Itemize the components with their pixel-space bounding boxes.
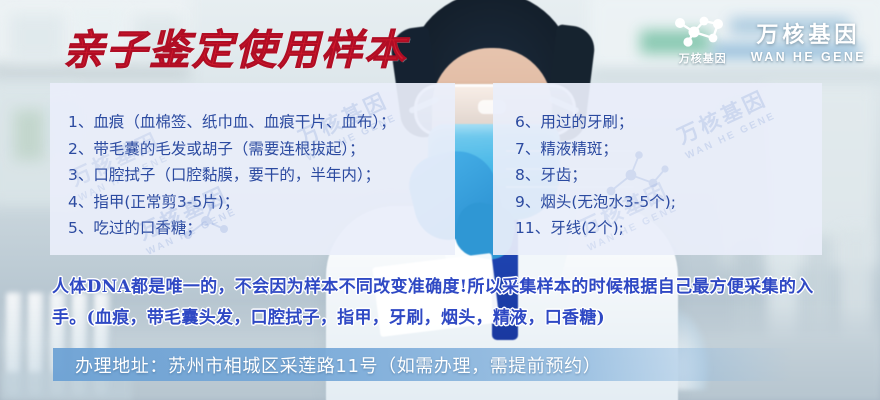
shelf-block (10, 14, 64, 60)
list-item: 1、血痕（血棉签、纸巾血、血痕干片、血布）； (68, 109, 455, 136)
list-item: 7、精液精斑； (515, 136, 822, 163)
shelf-block (14, 110, 44, 160)
brand-name-en: WAN HE GENE (751, 50, 866, 64)
sample-list-panel-right: 6、用过的牙刷； 7、精液精斑； 8、牙齿； 9、烟头(无泡水3-5个); 11… (493, 83, 822, 255)
list-item: 5、吃过的口香糖； (68, 215, 455, 242)
panel-gap (455, 83, 493, 255)
description-paragraph: 人体DNA都是唯一的，不会因为样本不同改变准确度!所以采集样本的时候根据自己最方… (52, 272, 842, 334)
brand-text: 万核基因 WAN HE GENE (751, 17, 866, 64)
list-item: 6、用过的牙刷； (515, 109, 822, 136)
poster-canvas: 亲子鉴定使用样本 (0, 0, 880, 400)
brand-logo: 万核基因 万核基因 WAN HE GENE (671, 14, 866, 66)
list-item: 8、牙齿； (515, 162, 822, 189)
list-item: 2、带毛囊的毛发或胡子（需要连根拔起）； (68, 136, 455, 163)
address-text: 办理地址：苏州市相城区采莲路11号（如需办理，需提前预约） (75, 349, 601, 381)
page-title: 亲子鉴定使用样本 (63, 16, 407, 76)
sample-list-left: 1、血痕（血棉签、纸巾血、血痕干片、血布）； 2、带毛囊的毛发或胡子（需要连根拔… (50, 83, 455, 242)
brand-name-cn: 万核基因 (756, 17, 860, 49)
brand-mark: 万核基因 (671, 14, 735, 66)
brand-mark-label: 万核基因 (679, 50, 727, 66)
list-item: 3、口腔拭子（口腔黏膜，要干的，半年内）； (68, 162, 455, 189)
dna-molecule-icon (671, 14, 735, 48)
sample-list-panels: 1、血痕（血棉签、纸巾血、血痕干片、血布）； 2、带毛囊的毛发或胡子（需要连根拔… (50, 83, 822, 255)
list-item: 11、牙线(2个); (515, 215, 822, 242)
list-item: 4、指甲(正常剪3-5片)； (68, 189, 455, 216)
sample-list-panel-left: 1、血痕（血棉签、纸巾血、血痕干片、血布）； 2、带毛囊的毛发或胡子（需要连根拔… (50, 83, 455, 255)
sample-list-right: 6、用过的牙刷； 7、精液精斑； 8、牙齿； 9、烟头(无泡水3-5个); 11… (493, 83, 822, 242)
list-item: 9、烟头(无泡水3-5个); (515, 189, 822, 216)
